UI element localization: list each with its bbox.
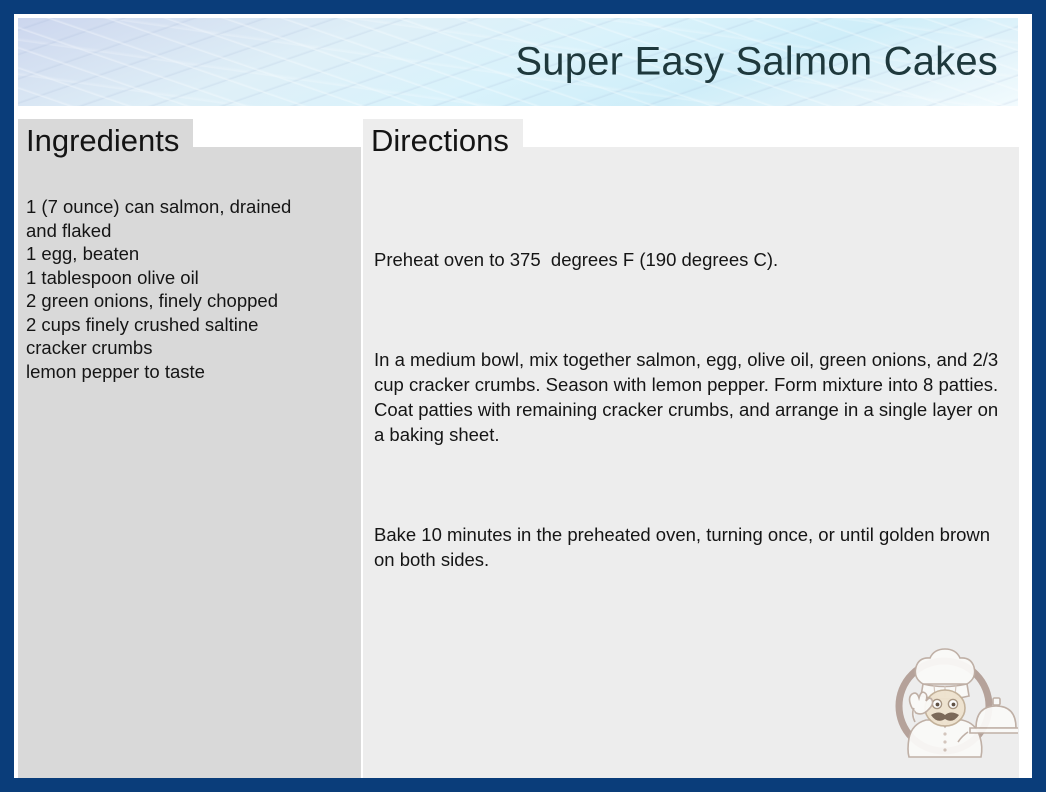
title-banner: Super Easy Salmon Cakes [18,18,1018,106]
direction-step: Bake 10 minutes in the preheated oven, t… [374,522,1001,572]
directions-panel: Directions Preheat oven to 375 degrees F… [363,147,1019,785]
ingredients-list: 1 (7 ounce) can salmon, drained and flak… [26,195,351,383]
direction-step: In a medium bowl, mix together salmon, e… [374,347,1001,447]
direction-step: Preheat oven to 375 degrees F (190 degre… [374,247,1001,272]
ingredients-heading: Ingredients [18,119,193,163]
right-margin-strip [1019,147,1043,785]
directions-steps: Preheat oven to 375 degrees F (190 degre… [374,197,1001,622]
page-title: Super Easy Salmon Cakes [515,40,998,85]
recipe-card: Super Easy Salmon Cakes [0,0,1046,792]
directions-heading: Directions [363,119,523,163]
ingredients-panel: Ingredients 1 (7 ounce) can salmon, drai… [18,147,361,785]
